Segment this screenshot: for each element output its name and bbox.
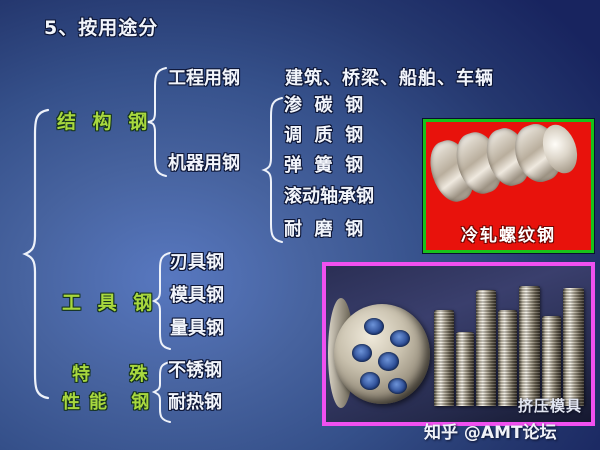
category-special-steel-label-line2: 性能 钢: [62, 394, 158, 412]
die-rod-1: [434, 310, 454, 406]
die-rod-7: [563, 288, 584, 406]
die-hole-2: [390, 330, 410, 347]
die-rod-2: [456, 332, 474, 406]
machine-steel-leaf-4: 耐 磨 钢: [284, 221, 363, 239]
tool-steel-leaf-2: 量具钢: [170, 320, 224, 338]
image-cold-rolled-rebar: 冷轧螺纹钢: [423, 119, 594, 253]
die-hole-4: [378, 352, 399, 371]
die-rod-3: [476, 290, 496, 406]
tool-steel-leaf-0: 刃具钢: [170, 254, 224, 272]
die-rod-6: [542, 316, 561, 406]
slide-canvas: 5、按用途分 结 构 钢 工程用钢 建筑、桥梁、船舶、车辆 机器用钢 渗 碳 钢…: [0, 0, 600, 450]
machine-steel-leaf-0: 渗 碳 钢: [284, 97, 363, 115]
machine-steel-leaf-1: 调 质 钢: [284, 127, 363, 145]
machine-steel-label: 机器用钢: [168, 155, 240, 173]
special-steel-leaf-0: 不锈钢: [168, 362, 222, 380]
machine-steel-leaf-2: 弹 簧 钢: [284, 157, 363, 175]
image-extrusion-dies: 挤压模具: [322, 262, 595, 426]
rebar-caption: 冷轧螺纹钢: [426, 221, 591, 246]
machine-steel-brace: [262, 96, 286, 244]
die-rod-4: [498, 310, 517, 406]
structural-steel-brace: [146, 66, 170, 178]
engineering-steel-label: 工程用钢: [168, 70, 240, 88]
special-steel-leaf-1: 耐热钢: [168, 394, 222, 412]
die-hole-3: [352, 344, 372, 362]
category-structural-steel-label: 结 构 钢: [57, 113, 152, 132]
engineering-steel-detail: 建筑、桥梁、船舶、车辆: [285, 70, 494, 88]
machine-steel-leaf-3: 滚动轴承钢: [284, 188, 374, 206]
root-brace: [22, 108, 52, 400]
die-disc: [334, 304, 430, 404]
die-rod-5: [519, 286, 540, 406]
dies-caption: 挤压模具: [518, 395, 582, 416]
die-hole-5: [360, 372, 380, 390]
tool-steel-leaf-1: 模具钢: [170, 287, 224, 305]
die-hole-6: [388, 378, 407, 394]
category-tool-steel-label: 工 具 钢: [62, 294, 157, 313]
die-hole-1: [364, 318, 384, 335]
watermark: 知乎 @AMT论坛: [424, 418, 557, 443]
page-title: 5、按用途分: [44, 19, 158, 38]
category-special-steel-label-line1: 特 殊: [72, 366, 157, 384]
